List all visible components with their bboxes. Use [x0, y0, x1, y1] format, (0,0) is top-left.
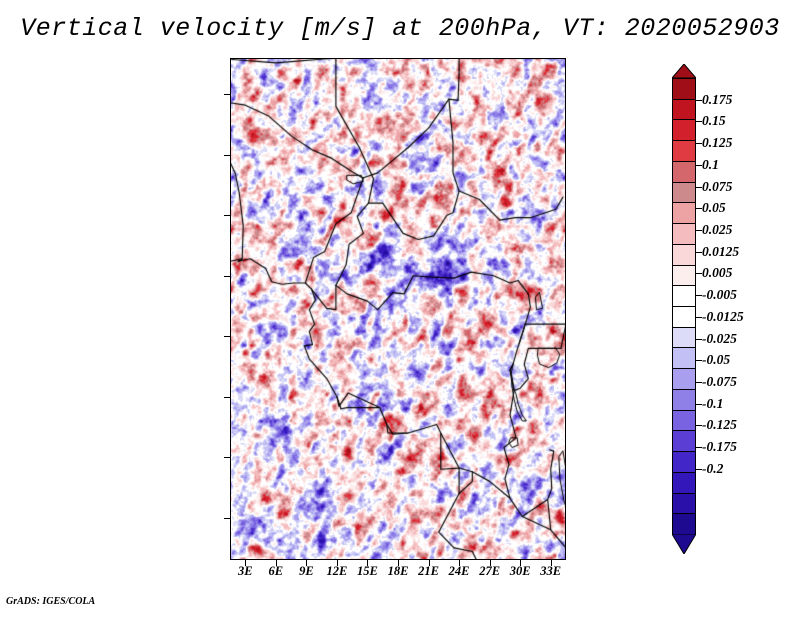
- colorbar-swatch: [672, 285, 696, 307]
- colorbar-label: 0.075: [702, 179, 732, 195]
- colorbar-label: 0.125: [702, 135, 732, 151]
- y-axis-tick: [224, 397, 230, 398]
- colorbar-swatch: [672, 202, 696, 224]
- colorbar-swatch: [672, 410, 696, 432]
- x-axis-label: 21E: [418, 564, 439, 579]
- colorbar-max-arrow: [672, 64, 696, 78]
- y-axis-tick: [224, 518, 230, 519]
- y-axis-tick: [224, 336, 230, 337]
- x-axis-label: 33E: [540, 564, 561, 579]
- x-axis-label: 6E: [269, 564, 284, 579]
- page-title: Vertical velocity [m/s] at 200hPa, VT: 2…: [0, 14, 800, 43]
- colorbar-label: -0.05: [702, 352, 730, 368]
- colorbar-label: -0.075: [702, 374, 737, 390]
- colorbar-label: -0.005: [702, 287, 737, 303]
- x-axis-label: 24E: [449, 564, 470, 579]
- colorbar-swatch: [672, 493, 696, 515]
- colorbar-swatch: [672, 368, 696, 390]
- colorbar-swatch: [672, 451, 696, 473]
- colorbar-swatch: [672, 430, 696, 452]
- colorbar-label: 0.05: [702, 200, 726, 216]
- y-axis-tick: [224, 155, 230, 156]
- colorbar-label: 0.005: [702, 265, 732, 281]
- colorbar-label: 0.1: [702, 157, 719, 173]
- colorbar-label: -0.125: [702, 417, 737, 433]
- colorbar-swatch: [672, 223, 696, 245]
- colorbar-swatch: [672, 140, 696, 162]
- colorbar-swatch: [672, 327, 696, 349]
- x-axis-label: 18E: [388, 564, 409, 579]
- colorbar-label: -0.025: [702, 331, 737, 347]
- colorbar-label: 0.15: [702, 113, 726, 129]
- colorbar-swatch: [672, 306, 696, 328]
- x-axis-label: 3E: [238, 564, 253, 579]
- colorbar-label: 0.175: [702, 92, 732, 108]
- x-axis-label: 12E: [326, 564, 347, 579]
- x-axis-label: 15E: [357, 564, 378, 579]
- colorbar-swatch: [672, 513, 696, 535]
- x-axis-label: 30E: [510, 564, 531, 579]
- colorbar-label: -0.2: [702, 461, 723, 477]
- colorbar-min-arrow: [672, 534, 696, 554]
- colorbar-swatch: [672, 182, 696, 204]
- colorbar-swatch: [672, 161, 696, 183]
- colorbar-label: -0.1: [702, 396, 723, 412]
- map-plot-area: 20N15N10N5NEQ5S10S15S3E6E9E12E15E18E21E2…: [230, 58, 566, 560]
- colorbar: 0.1750.150.1250.10.0750.050.0250.01250.0…: [672, 64, 696, 548]
- colorbar-swatch: [672, 99, 696, 121]
- colorbar-swatch: [672, 265, 696, 287]
- x-axis-label: 27E: [479, 564, 500, 579]
- y-axis-tick: [224, 457, 230, 458]
- colorbar-swatch: [672, 347, 696, 369]
- y-axis-tick: [224, 94, 230, 95]
- colorbar-label: 0.025: [702, 222, 732, 238]
- colorbar-swatch: [672, 78, 696, 100]
- colorbar-swatch: [672, 244, 696, 266]
- colorbar-label: -0.175: [702, 439, 737, 455]
- vertical-velocity-heatmap: [230, 58, 566, 560]
- y-axis-tick: [224, 215, 230, 216]
- colorbar-swatch: [672, 472, 696, 494]
- colorbar-label: 0.0125: [702, 244, 739, 260]
- footer-credit: GrADS: IGES/COLA: [6, 596, 95, 607]
- colorbar-label: -0.0125: [702, 309, 744, 325]
- x-axis-label: 9E: [299, 564, 314, 579]
- y-axis-tick: [224, 276, 230, 277]
- colorbar-swatch: [672, 389, 696, 411]
- colorbar-swatch: [672, 119, 696, 141]
